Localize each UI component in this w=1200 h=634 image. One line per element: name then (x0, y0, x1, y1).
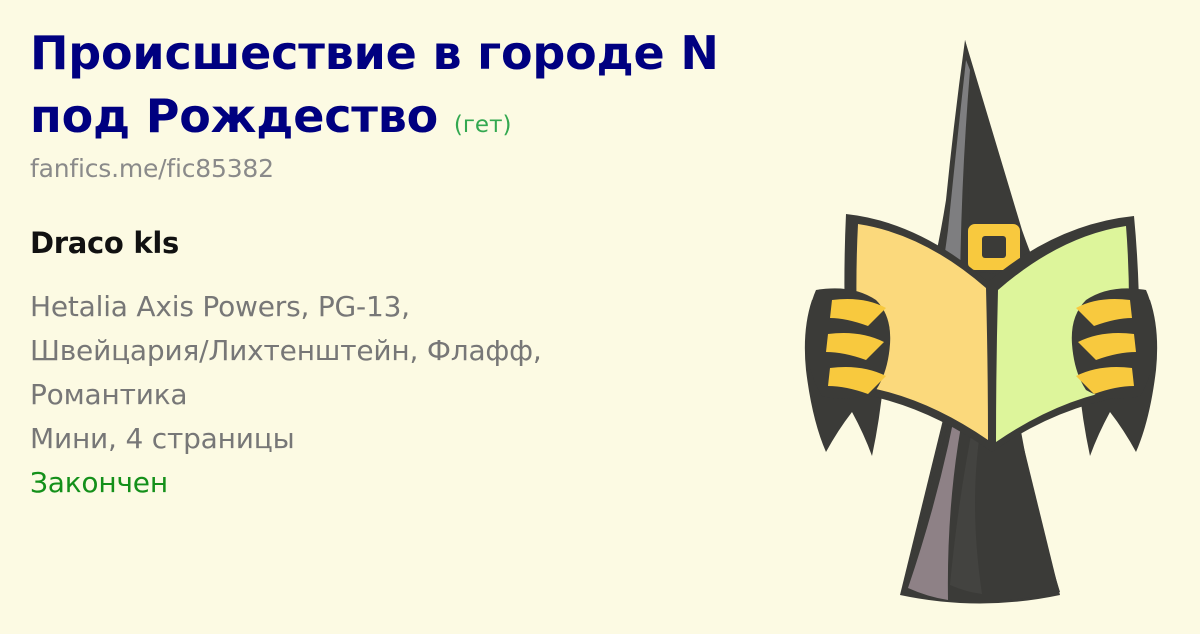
story-size: Мини, 4 страницы (30, 418, 820, 460)
story-author[interactable]: Draco kls (30, 226, 820, 261)
right-hand (1072, 288, 1156, 399)
page-title: Происшествие в городе N под Рождество (г… (30, 22, 820, 148)
story-category-label: (гет) (454, 112, 512, 138)
story-title-text: Происшествие в городе N под Рождество (30, 26, 719, 143)
story-metadata: Hetalia Axis Powers, PG-13, Швейцария/Ли… (30, 285, 820, 504)
story-url[interactable]: fanfics.me/fic85382 (30, 154, 820, 184)
story-fandom-rating: Hetalia Axis Powers, PG-13, (30, 285, 820, 329)
left-hand (806, 288, 890, 399)
story-genre: Романтика (30, 373, 820, 417)
wizard-reading-book-illustration (760, 0, 1200, 630)
wizard-illustration-svg (760, 0, 1200, 630)
status-badge: Закончен (30, 462, 820, 504)
story-preview-card: Происшествие в городе N под Рождество (г… (0, 0, 1200, 630)
hat-buckle-icon (968, 224, 1020, 270)
story-pairing-tags: Швейцария/Лихтенштейн, Флафф, (30, 329, 820, 373)
story-info-column: Происшествие в городе N под Рождество (г… (30, 22, 820, 504)
